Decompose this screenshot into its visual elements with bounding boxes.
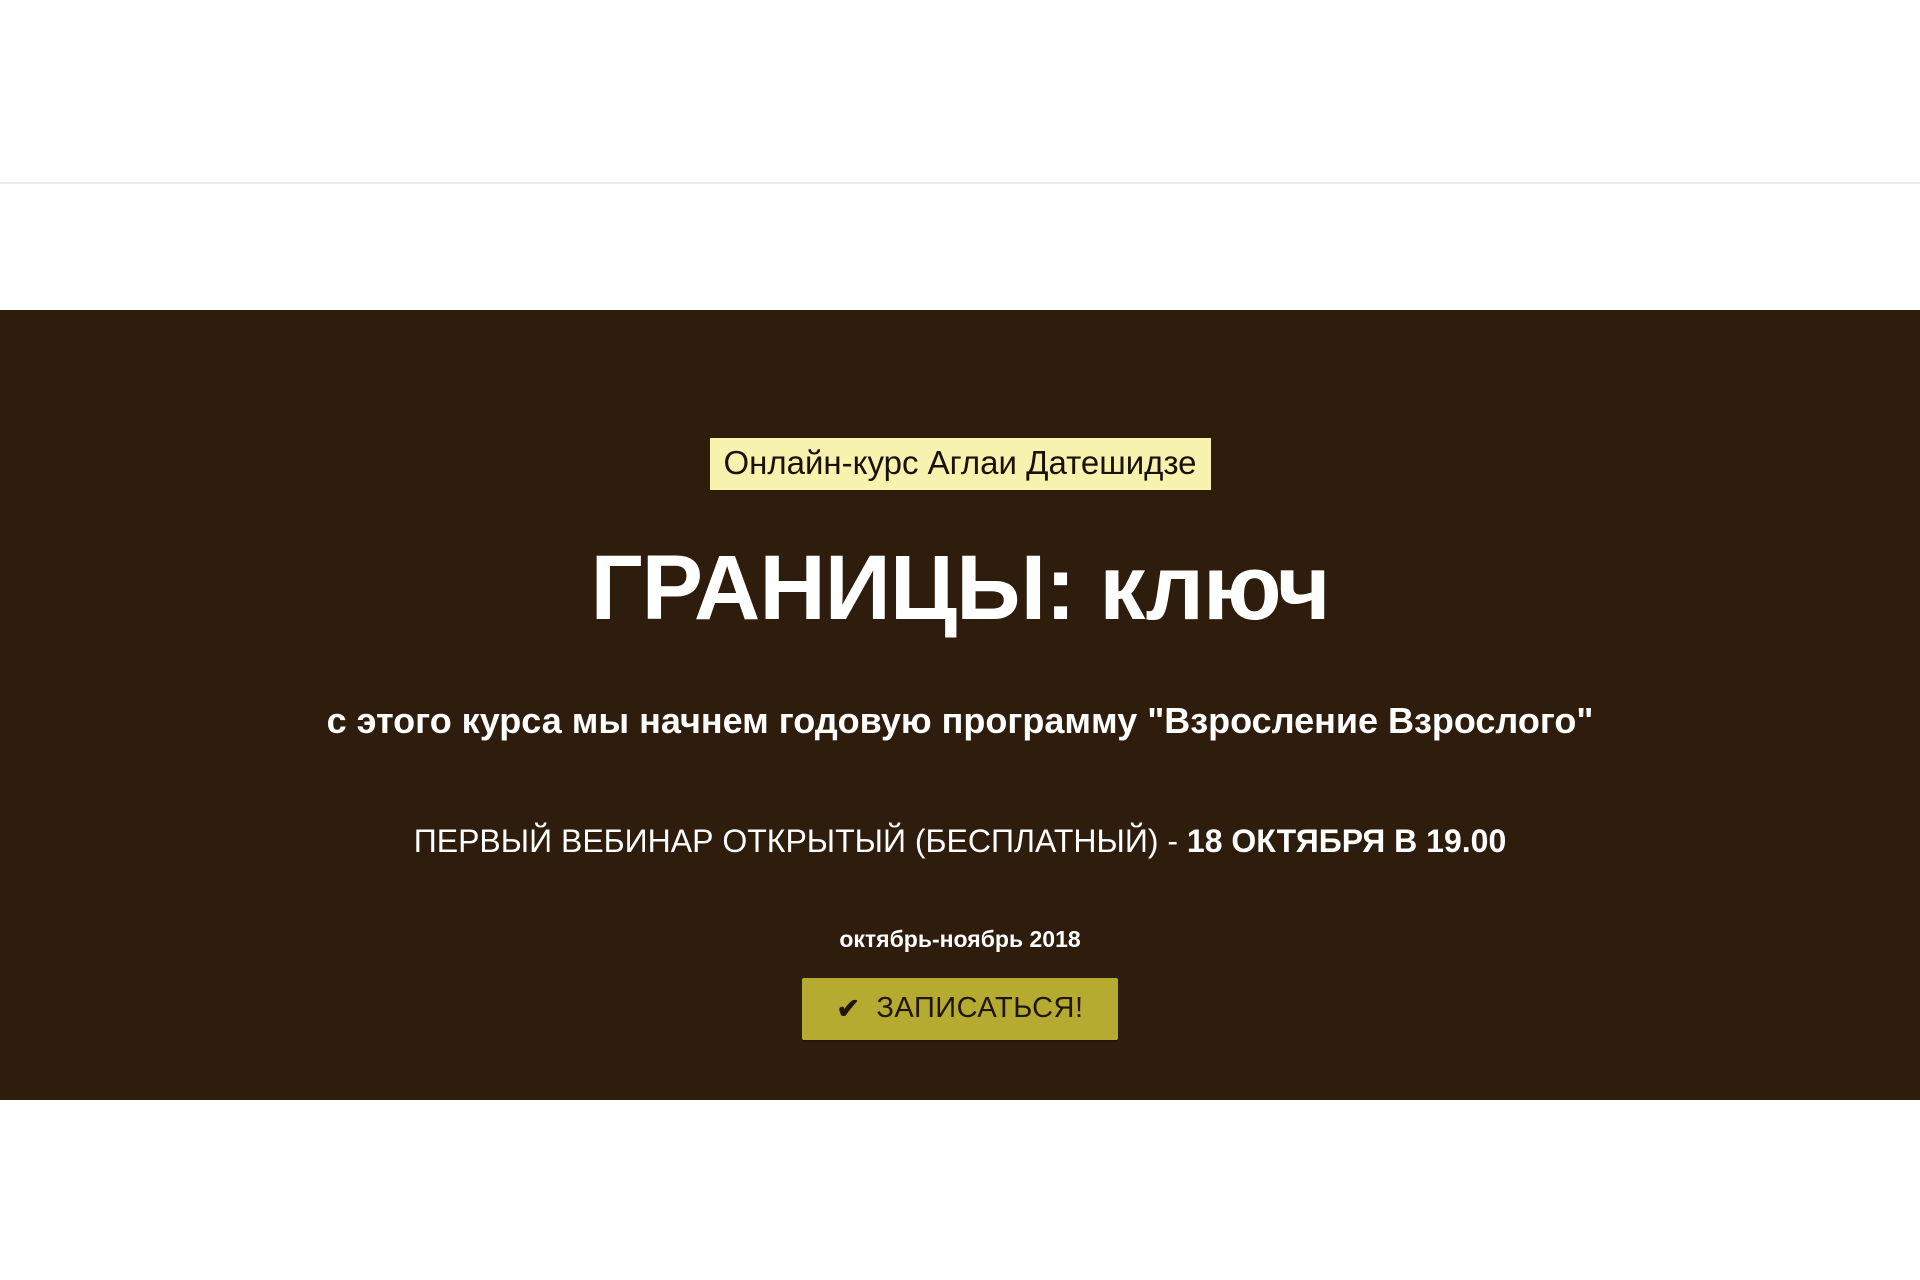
hero-webinar-date: 18 ОКТЯБРЯ В 19.00 bbox=[1187, 823, 1506, 859]
hero-cta-row: ✔ ЗАПИСАТЬСЯ! bbox=[0, 978, 1920, 1040]
hero-eyebrow: Онлайн-курс Аглаи Датешидзе bbox=[710, 438, 1211, 490]
hero-banner: Онлайн-курс Аглаи Датешидзе ГРАНИЦЫ: клю… bbox=[0, 310, 1920, 1100]
signup-button[interactable]: ✔ ЗАПИСАТЬСЯ! bbox=[802, 978, 1117, 1040]
hero-period: октябрь-ноябрь 2018 bbox=[0, 925, 1920, 955]
hero-webinar-line: ПЕРВЫЙ ВЕБИНАР ОТКРЫТЫЙ (БЕСПЛАТНЫЙ) - 1… bbox=[0, 821, 1920, 863]
hero-eyebrow-row: Онлайн-курс Аглаи Датешидзе bbox=[0, 438, 1920, 490]
landing-page: LifePractic для вопросов: roditelstvo.pr… bbox=[0, 0, 1920, 1280]
top-white-strip bbox=[0, 0, 1920, 182]
hero-title: ГРАНИЦЫ: ключ bbox=[0, 540, 1920, 637]
page-bottom-area bbox=[0, 1100, 1920, 1280]
signup-button-label: ЗАПИСАТЬСЯ! bbox=[876, 992, 1083, 1025]
check-icon: ✔ bbox=[836, 995, 860, 1023]
site-header: LifePractic для вопросов: roditelstvo.pr… bbox=[0, 184, 1920, 310]
hero-webinar-prefix: ПЕРВЫЙ ВЕБИНАР ОТКРЫТЫЙ (БЕСПЛАТНЫЙ) - bbox=[414, 823, 1187, 859]
hero-content: Онлайн-курс Аглаи Датешидзе ГРАНИЦЫ: клю… bbox=[0, 310, 1920, 1040]
hero-tagline: с этого курса мы начнем годовую программ… bbox=[0, 698, 1920, 745]
